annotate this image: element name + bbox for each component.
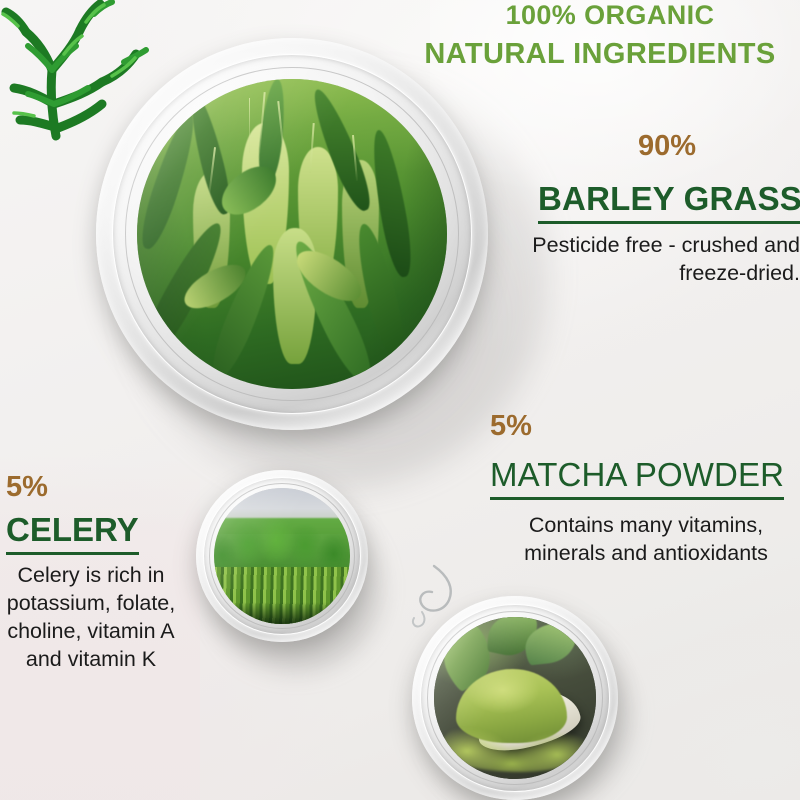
barley-percent: 90% [638, 132, 696, 161]
jar-matcha-powder [412, 596, 618, 800]
barley-title: BARLEY GRASS [538, 182, 800, 224]
celery-photo [214, 488, 350, 624]
matcha-percent: 5% [490, 412, 532, 441]
celery-description: Celery is rich in potassium, folate, cho… [0, 562, 182, 674]
celery-artwork [214, 488, 350, 624]
headline-organic: 100% ORGANIC [420, 0, 800, 31]
matcha-description: Contains many vitamins, minerals and ant… [492, 512, 800, 568]
celery-title: CELERY [6, 513, 139, 555]
barley-description: Pesticide free - crushed and freeze-drie… [500, 232, 800, 288]
headline-natural-ingredients: NATURAL INGREDIENTS [400, 38, 800, 72]
jar-barley-grass [96, 38, 488, 430]
barley-grass-photo [137, 79, 447, 389]
celery-percent: 5% [6, 473, 48, 502]
matcha-title: MATCHA POWDER [490, 458, 784, 500]
ingredient-infographic-poster: 100% ORGANIC NATURAL INGREDIENTS 90% BAR… [0, 0, 800, 800]
barley-grass-artwork [137, 79, 447, 389]
jar-celery [196, 470, 368, 642]
celery-ground-shadow [214, 602, 350, 624]
matcha-artwork [434, 617, 597, 778]
matcha-powder-photo [434, 617, 597, 778]
